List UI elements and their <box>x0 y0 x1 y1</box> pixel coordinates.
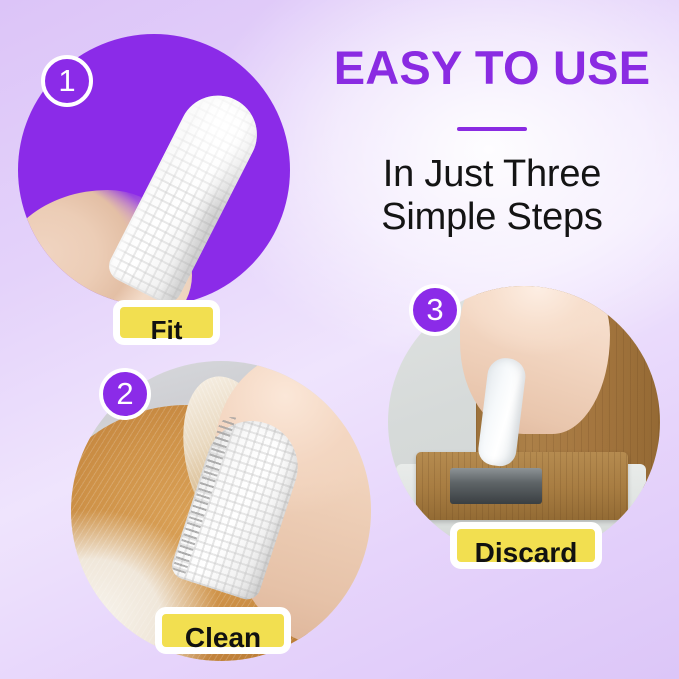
step-number-badge-2: 2 <box>99 368 151 420</box>
page-title: EASY TO USE <box>318 44 666 91</box>
step-number-badge-3: 3 <box>409 284 461 336</box>
waste-bin-opening <box>450 468 542 504</box>
page-subtitle: In Just Three Simple Steps <box>318 153 666 238</box>
infographic-canvas: EASY TO USE In Just Three Simple Steps 1… <box>0 0 679 679</box>
header-block: EASY TO USE In Just Three Simple Steps <box>318 44 666 238</box>
step-caption-fit: Fit <box>113 300 220 345</box>
title-divider <box>457 127 527 131</box>
step-caption-clean: Clean <box>155 607 291 654</box>
subtitle-line-1: In Just Three <box>318 153 666 196</box>
subtitle-line-2: Simple Steps <box>318 196 666 239</box>
step-number-badge-1: 1 <box>41 55 93 107</box>
step-caption-discard: Discard <box>450 522 602 569</box>
